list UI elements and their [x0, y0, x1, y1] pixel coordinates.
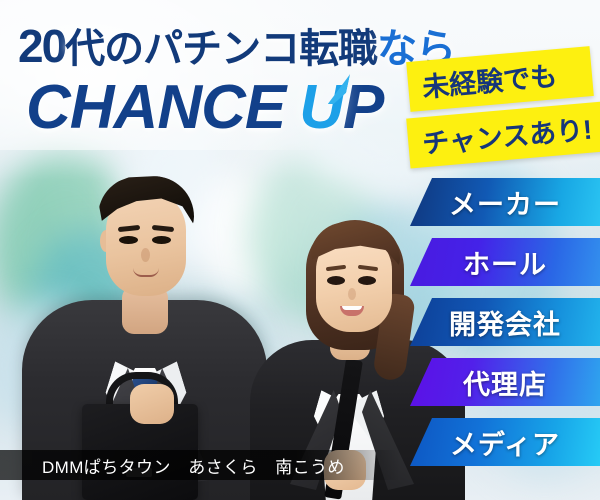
category-label: 開発会社: [449, 303, 561, 342]
category-label: メディア: [450, 423, 560, 462]
badge-line-1: 未経験でも: [406, 46, 594, 112]
badge-line-2: チャンスあり!: [406, 102, 600, 169]
caption-text: DMMぱちタウン あさくら 南こうめ: [0, 453, 345, 478]
logo-letter-u: U: [299, 72, 343, 143]
category-button-media[interactable]: メディア: [410, 418, 600, 466]
headline-number: 20: [18, 20, 65, 72]
category-list: メーカー ホール 開発会社 代理店 メディア: [410, 178, 600, 478]
headline: 20代のパチンコ転職なら: [18, 16, 455, 74]
caption-bar: DMMぱちタウン あさくら 南こうめ: [0, 450, 400, 480]
category-label: 代理店: [463, 363, 547, 402]
logo-chance-up: CHANCEUP: [26, 72, 383, 143]
category-button-developer[interactable]: 開発会社: [410, 298, 600, 346]
category-button-maker[interactable]: メーカー: [410, 178, 600, 226]
badge-no-experience: 未経験でも チャンスあり!: [408, 54, 600, 160]
category-label: ホール: [463, 243, 547, 282]
category-button-agency[interactable]: 代理店: [410, 358, 600, 406]
logo-word-chance: CHANCE: [26, 73, 285, 142]
category-button-hall[interactable]: ホール: [410, 238, 600, 286]
headline-rest: 代のパチンコ転職: [65, 27, 377, 71]
category-label: メーカー: [449, 183, 561, 222]
promo-banner: 20代のパチンコ転職なら CHANCEUP 未経験でも チャンスあり! メーカー…: [0, 0, 600, 500]
logo-letter-p: P: [343, 73, 383, 142]
